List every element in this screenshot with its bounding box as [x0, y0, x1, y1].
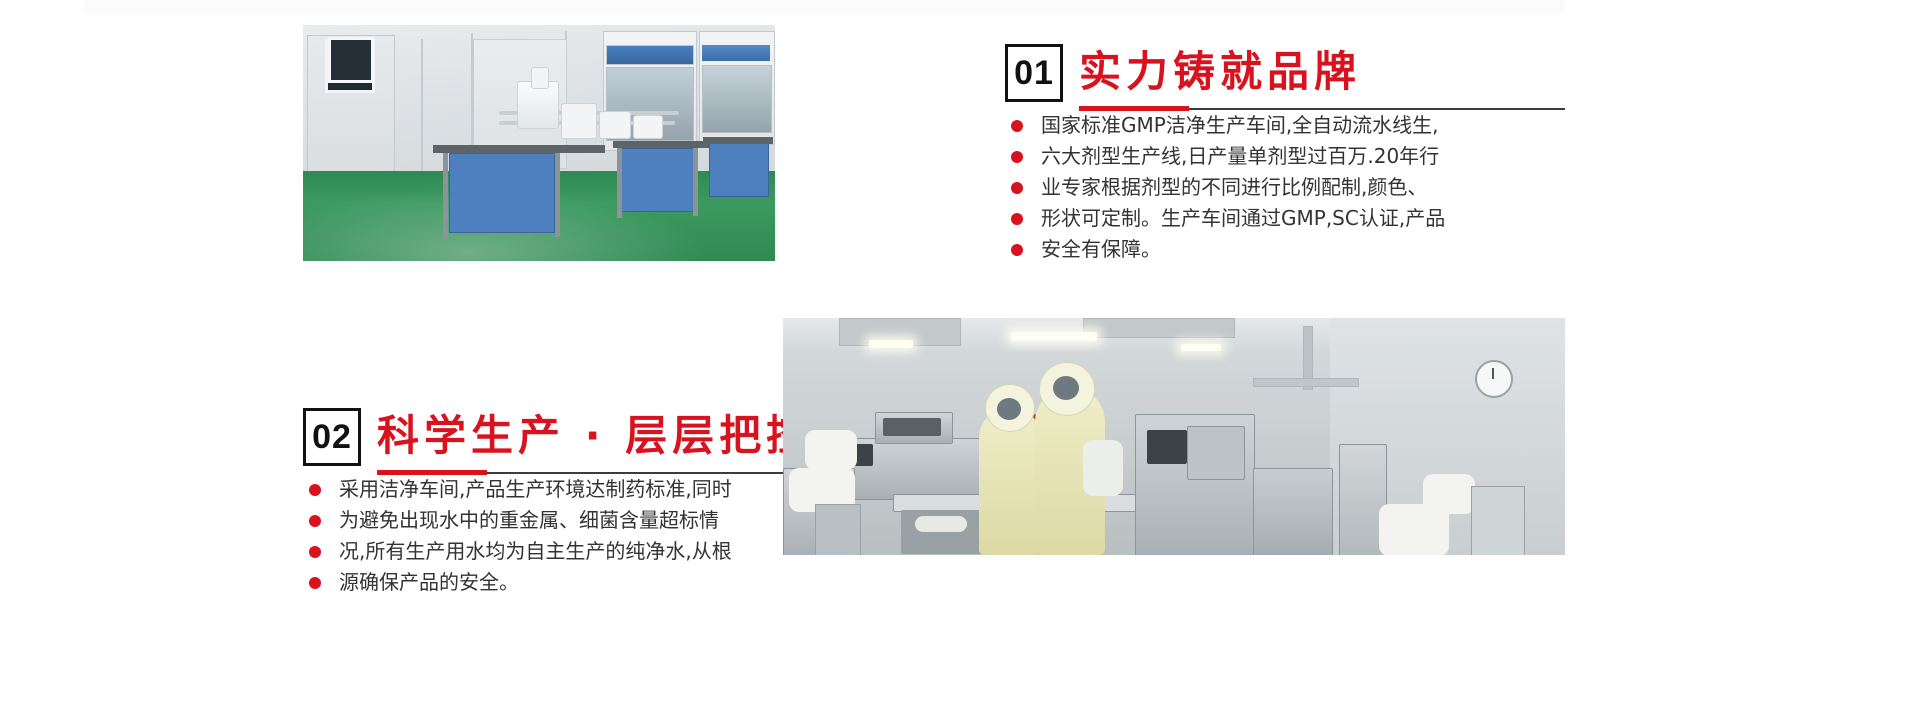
- list-item: 形状可定制。生产车间通过GMP,SC认证,产品: [1005, 203, 1565, 234]
- section-02-title: 科学生产 · 层层把控: [377, 408, 813, 464]
- list-item: 国家标准GMP洁净生产车间,全自动流水线生,: [1005, 110, 1565, 141]
- list-item: 六大剂型生产线,日产量单剂型过百万.20年行: [1005, 141, 1565, 172]
- top-band: [85, 0, 1565, 13]
- section-01-title: 实力铸就品牌: [1079, 44, 1361, 100]
- section-01-bullets: 国家标准GMP洁净生产车间,全自动流水线生, 六大剂型生产线,日产量单剂型过百万…: [1005, 110, 1565, 265]
- section-02-bullets: 采用洁净车间,产品生产环境达制药标准,同时 为避免出现水中的重金属、细菌含量超标…: [303, 474, 803, 598]
- list-item: 况,所有生产用水均为自主生产的纯净水,从根: [303, 536, 803, 567]
- section-01-number: 01: [1005, 44, 1063, 102]
- list-item: 安全有保障。: [1005, 234, 1565, 265]
- list-item: 源确保产品的安全。: [303, 567, 803, 598]
- gmp-cleanroom-photo: [303, 25, 775, 261]
- section-02-number: 02: [303, 408, 361, 466]
- promo-page: 01 实力铸就品牌 国家标准GMP洁净生产车间,全自动流水线生, 六大剂型生产线…: [0, 0, 1920, 716]
- list-item: 采用洁净车间,产品生产环境达制药标准,同时: [303, 474, 803, 505]
- section-01: 01 实力铸就品牌 国家标准GMP洁净生产车间,全自动流水线生, 六大剂型生产线…: [1005, 44, 1565, 265]
- list-item: 业专家根据剂型的不同进行比例配制,颜色、: [1005, 172, 1565, 203]
- wall-clock: [1475, 360, 1513, 398]
- workers-production-line-photo: [783, 318, 1565, 555]
- section-01-header: 01 实力铸就品牌: [1005, 44, 1565, 102]
- section-02-header: 02 科学生产 · 层层把控: [303, 408, 803, 466]
- list-item: 为避免出现水中的重金属、细菌含量超标情: [303, 505, 803, 536]
- section-02: 02 科学生产 · 层层把控 采用洁净车间,产品生产环境达制药标准,同时 为避免…: [303, 408, 803, 598]
